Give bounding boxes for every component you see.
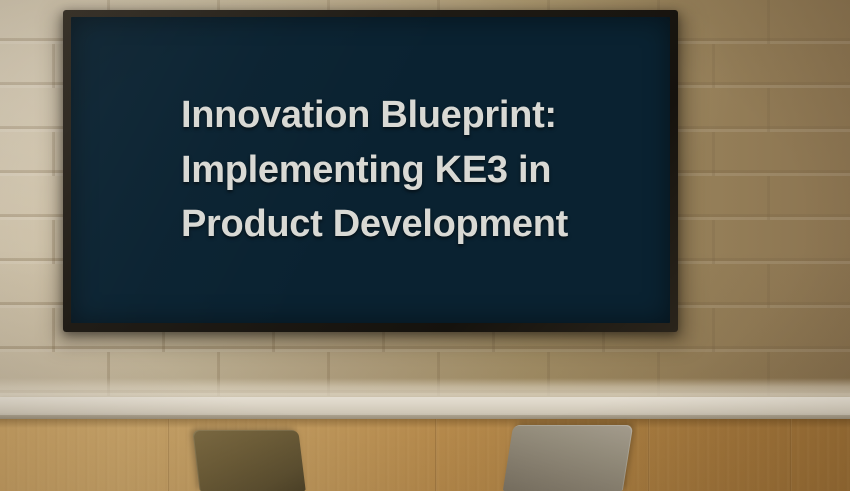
slide-title-line-2: Implementing KE3 in bbox=[181, 143, 568, 198]
slide-title: Innovation Blueprint: Implementing KE3 i… bbox=[71, 88, 568, 252]
cabinet-door-seam bbox=[435, 419, 437, 491]
cabinet-door-seam bbox=[168, 419, 170, 491]
cabinet-door-seam bbox=[790, 419, 792, 491]
conference-room-scene: Innovation Blueprint: Implementing KE3 i… bbox=[0, 0, 850, 491]
television-screen[interactable]: Innovation Blueprint: Implementing KE3 i… bbox=[71, 17, 670, 323]
cabinet-door-seam bbox=[648, 419, 650, 491]
laptop-lid bbox=[192, 430, 305, 491]
slide-title-line-1: Innovation Blueprint: bbox=[181, 88, 568, 143]
cabinet-top-shadow bbox=[0, 419, 850, 428]
wood-cabinet[interactable] bbox=[0, 419, 850, 491]
laptop-right[interactable] bbox=[503, 425, 633, 491]
laptop-lid bbox=[503, 425, 633, 491]
laptop-left[interactable] bbox=[192, 430, 305, 491]
slide-title-line-3: Product Development bbox=[181, 197, 568, 252]
wall-mounted-television[interactable]: Innovation Blueprint: Implementing KE3 i… bbox=[63, 10, 678, 332]
